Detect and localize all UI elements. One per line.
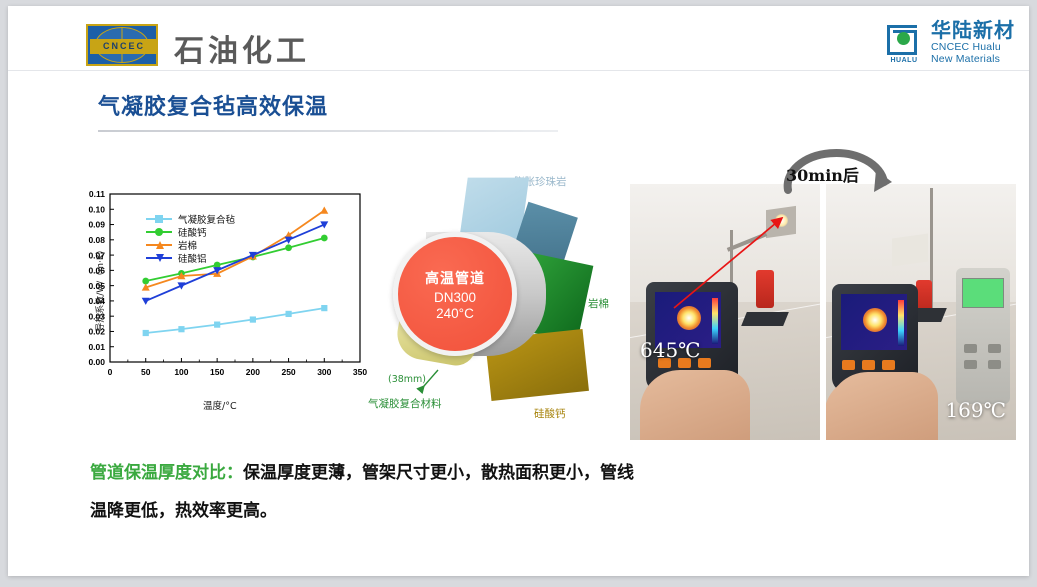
thermometer-display bbox=[962, 278, 1004, 308]
camera-screen-right bbox=[841, 294, 907, 350]
chart-ylabel: 导热系数/W/（m·K） bbox=[93, 245, 106, 332]
hualu-logo: HUALU 华陆新材 CNCEC Hualu New Materials bbox=[884, 20, 1015, 65]
sample-plate bbox=[892, 233, 928, 266]
pipe-insulation-diagram: 高温管道 DN300 240°C 膨胀珍珠岩 (128mm) 岩棉 (68mm)… bbox=[366, 174, 634, 426]
temperature-before: 645℃ bbox=[640, 338, 701, 362]
chart-xlabel: 温度/°C bbox=[203, 398, 237, 412]
pipe-core-line2: DN300 bbox=[434, 290, 476, 305]
legend-marker-square-icon bbox=[155, 215, 163, 223]
handheld-thermometer bbox=[956, 268, 1010, 404]
legend-item-3: 硅酸铝 bbox=[146, 251, 235, 264]
chart-legend: 气凝胶复合毡硅酸钙岩棉硅酸铝 bbox=[146, 212, 235, 264]
summary-caption: 管道保温厚度对比：保温厚度更薄，管架尺寸更小，散热面积更小，管线温降更低，热效率… bbox=[90, 454, 650, 530]
legend-marker-triangle-down-icon bbox=[156, 254, 164, 262]
legend-label: 硅酸钙 bbox=[178, 225, 207, 239]
slide-header: CNCEC 石油化工 HUALU 华陆新材 CNCEC Hualu New Ma… bbox=[8, 6, 1029, 70]
header-divider bbox=[8, 70, 1029, 71]
cncec-band-text: CNCEC bbox=[90, 39, 158, 54]
legend-item-2: 岩棉 bbox=[146, 238, 235, 251]
legend-label: 岩棉 bbox=[178, 238, 197, 252]
legend-label: 气凝胶复合毡 bbox=[178, 212, 235, 226]
elapsed-time-label: 30min后 bbox=[786, 162, 859, 186]
svg-text:0.08: 0.08 bbox=[88, 235, 105, 245]
hualu-cn: 华陆新材 bbox=[931, 20, 1015, 41]
svg-text:0.01: 0.01 bbox=[88, 342, 105, 352]
legend-item-0: 气凝胶复合毡 bbox=[146, 212, 235, 225]
label-aerogel: 气凝胶复合材料 bbox=[368, 396, 442, 411]
svg-text:0.09: 0.09 bbox=[88, 220, 105, 230]
pipe-core-label: 高温管道 DN300 240°C bbox=[393, 232, 517, 356]
cncec-wordmark: 石油化工 bbox=[174, 26, 310, 70]
legend-marker-circle-icon bbox=[155, 228, 163, 236]
cncec-logo: CNCEC bbox=[86, 24, 158, 66]
svg-text:150: 150 bbox=[210, 367, 224, 377]
legend-swatch bbox=[146, 218, 172, 220]
hualu-en1: CNCEC Hualu bbox=[931, 41, 1015, 53]
caption-highlight: 管道保温厚度对比： bbox=[90, 463, 243, 483]
pipe-core-line1: 高温管道 bbox=[425, 268, 485, 288]
svg-text:0: 0 bbox=[108, 367, 113, 377]
svg-text:300: 300 bbox=[317, 367, 331, 377]
legend-swatch bbox=[146, 231, 172, 233]
svg-text:0.00: 0.00 bbox=[88, 357, 105, 367]
hualu-text-block: 华陆新材 CNCEC Hualu New Materials bbox=[931, 20, 1015, 65]
legend-item-1: 硅酸钙 bbox=[146, 225, 235, 238]
hualu-mark-icon: HUALU bbox=[884, 23, 924, 63]
operator-hand-right-2 bbox=[826, 376, 920, 440]
svg-text:0.10: 0.10 bbox=[88, 204, 105, 214]
page-title: 气凝胶复合毡高效保温 bbox=[98, 89, 328, 121]
svg-text:0.11: 0.11 bbox=[89, 189, 105, 199]
slide-canvas: CNCEC 石油化工 HUALU 华陆新材 CNCEC Hualu New Ma… bbox=[8, 6, 1029, 576]
dim-aerogel: (38mm) bbox=[388, 374, 426, 385]
title-underline bbox=[98, 130, 558, 132]
label-rockwool: 岩棉 bbox=[588, 296, 609, 311]
laser-pointer-line bbox=[630, 184, 820, 440]
elapsed-time-arrow: 30min后 bbox=[780, 148, 900, 194]
pipe-core-line3: 240°C bbox=[436, 306, 474, 321]
legend-label: 硅酸铝 bbox=[178, 251, 207, 265]
photo-before: 645℃ bbox=[630, 184, 820, 440]
legend-swatch bbox=[146, 244, 172, 246]
legend-swatch bbox=[146, 257, 172, 259]
thermal-photo-pair: 645℃ bbox=[630, 184, 1018, 440]
hualu-mark-text: HUALU bbox=[884, 57, 924, 64]
svg-text:50: 50 bbox=[141, 367, 151, 377]
legend-marker-triangle-up-icon bbox=[156, 241, 164, 249]
svg-text:200: 200 bbox=[246, 367, 260, 377]
photo-after: 169℃ bbox=[826, 184, 1016, 440]
hualu-en2: New Materials bbox=[931, 53, 1015, 65]
thermal-conductivity-chart: 0.000.010.020.030.040.050.060.070.080.09… bbox=[68, 186, 368, 418]
label-calcium-silicate: 硅酸钙 bbox=[534, 406, 566, 421]
temperature-after: 169℃ bbox=[945, 398, 1006, 422]
svg-text:250: 250 bbox=[281, 367, 295, 377]
svg-text:100: 100 bbox=[174, 367, 188, 377]
